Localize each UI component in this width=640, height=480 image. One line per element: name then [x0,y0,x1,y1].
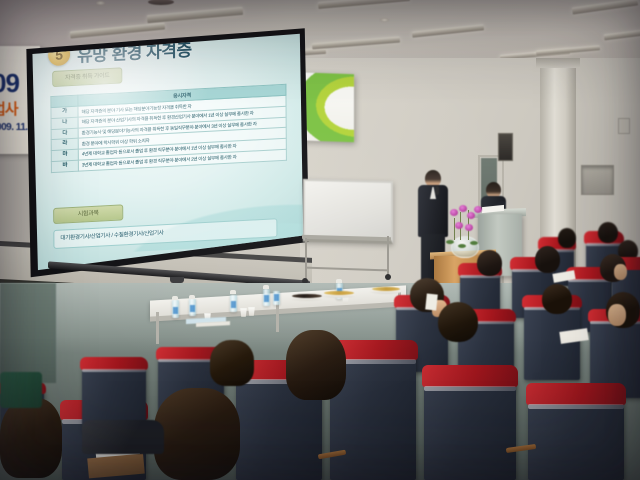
audience-jacket [82,420,164,454]
audience-person [210,340,258,390]
bottle-cap [189,295,195,299]
ceiling-downlight [380,18,389,22]
speaker-microphone-icon [435,186,439,195]
orchid-stem [454,218,455,240]
slide-qualification-table: 응시자격 가 해당 자격증의 분야 기사 또는 해당분야기능장 자격을 취득한 … [50,84,287,173]
audience-head [0,398,62,478]
seat-headrest [422,365,518,387]
whiteboard-leg [305,238,307,280]
audience-person [0,398,70,480]
audience-head [598,222,618,243]
bottle-cap [336,279,342,283]
orchid-bloom [465,224,473,231]
auditorium-seat [528,392,624,480]
audience-person [476,250,504,280]
bottle-cap [263,285,269,289]
audience-person [436,302,482,346]
water-bottle [189,299,196,316]
orchid-leaf [458,244,466,248]
orchid-bloom [467,212,475,219]
water-bottle [273,291,280,305]
presentation-slide: 5 유망 환경 자격증 자격증 취득 가이드 응시자격 가 해당 자격증의 분야… [34,27,304,263]
bottle-cap [172,296,178,300]
orchid-bloom [455,222,463,229]
audience-head [154,388,240,480]
wall-speaker-icon [498,133,513,161]
orchid-leaf [446,240,454,244]
lecture-hall-photo: 09 업사 2009. 11. 수회 전략토론 환경정책과 5 유망 환경 자격… [0,0,640,480]
seat-trim [82,369,146,372]
banner-left-orange-text: 업사 [0,98,18,119]
water-bottle [172,300,179,318]
water-bottle [263,289,270,306]
projection-screen: 5 유망 환경 자격증 자격증 취득 가이드 응시자격 가 해당 자격증의 분야… [22,27,312,289]
column-capital [536,58,580,68]
snack-yellow-items [324,291,354,295]
wall-fixture [618,118,630,134]
audience-head [542,284,572,314]
audience-person [540,284,576,320]
audience-person [600,292,640,338]
banner-left-year: 09 [0,68,19,99]
slide-pill-top: 자격증 취득 가이드 [52,67,122,87]
audience-person [154,388,246,480]
audience-head [210,340,254,386]
audience-head [438,302,478,342]
seat-trim [424,386,516,391]
ceiling-downlight [96,1,105,5]
seat-trim [528,404,624,409]
table-leg [276,302,279,332]
auditorium-seat [424,374,516,480]
audience-face [608,304,626,326]
left-seat-back-green [0,372,42,408]
orchid-bloom [450,209,458,216]
bottle-cap [230,290,236,294]
orchid-bloom [474,206,482,213]
audience-head [558,228,576,248]
audience-head [535,246,560,273]
seat-headrest [526,383,626,405]
audience-face [614,264,627,280]
orchid-bloom [459,205,467,212]
snack-yellow-items [372,287,400,291]
table-row-key: 바 [51,160,78,172]
projection-screen-surface: 5 유망 환경 자격증 자격증 취득 가이드 응시자격 가 해당 자격증의 분야… [22,27,312,289]
orchid-leaf [470,241,478,245]
whiteboard-wheel [385,274,391,280]
audience-person [600,254,630,290]
audience-head [286,330,346,400]
wall-vent [581,165,614,195]
table-leg [156,312,159,344]
water-bottle [230,295,237,312]
audience-person [286,330,350,408]
left-wall-shadow-strip [0,283,56,383]
audience-person [596,222,620,248]
audience-head [477,250,502,276]
snack-dark-items [292,294,322,298]
